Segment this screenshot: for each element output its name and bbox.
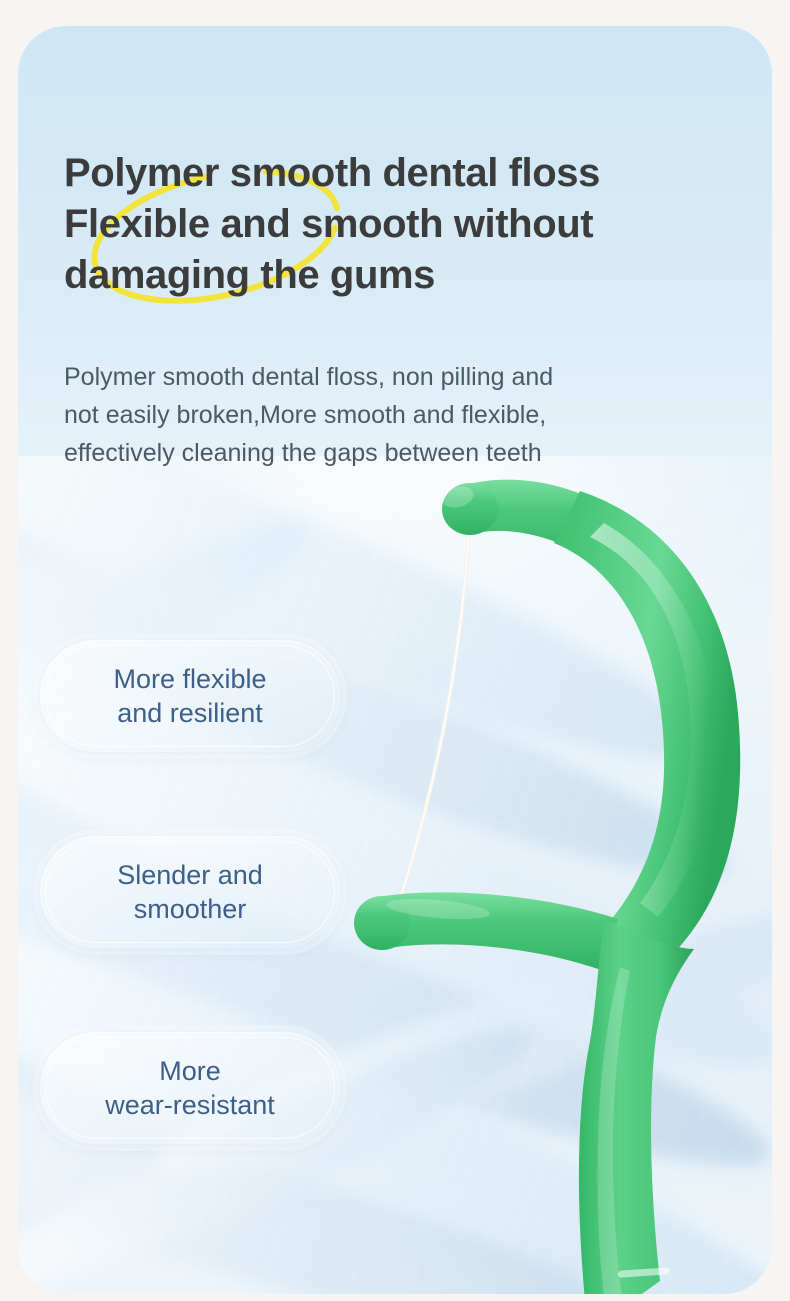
feature-pill-label: Slender and smoother xyxy=(117,858,263,926)
page-title: Polymer smooth dental floss Flexible and… xyxy=(64,148,744,301)
product-feature-card: Polymer smooth dental floss Flexible and… xyxy=(18,26,772,1294)
feature-pill-label: More wear-resistant xyxy=(105,1054,275,1122)
headline-block: Polymer smooth dental floss Flexible and… xyxy=(64,148,744,301)
feature-pill-2[interactable]: Slender and smoother xyxy=(40,836,340,948)
description-text: Polymer smooth dental floss, non pilling… xyxy=(64,358,736,472)
feature-pill-3[interactable]: More wear-resistant xyxy=(40,1032,340,1144)
feature-list: More flexible and resilient Slender and … xyxy=(40,640,370,1228)
feature-pill-1[interactable]: More flexible and resilient xyxy=(40,640,340,752)
feature-pill-label: More flexible and resilient xyxy=(113,662,266,730)
